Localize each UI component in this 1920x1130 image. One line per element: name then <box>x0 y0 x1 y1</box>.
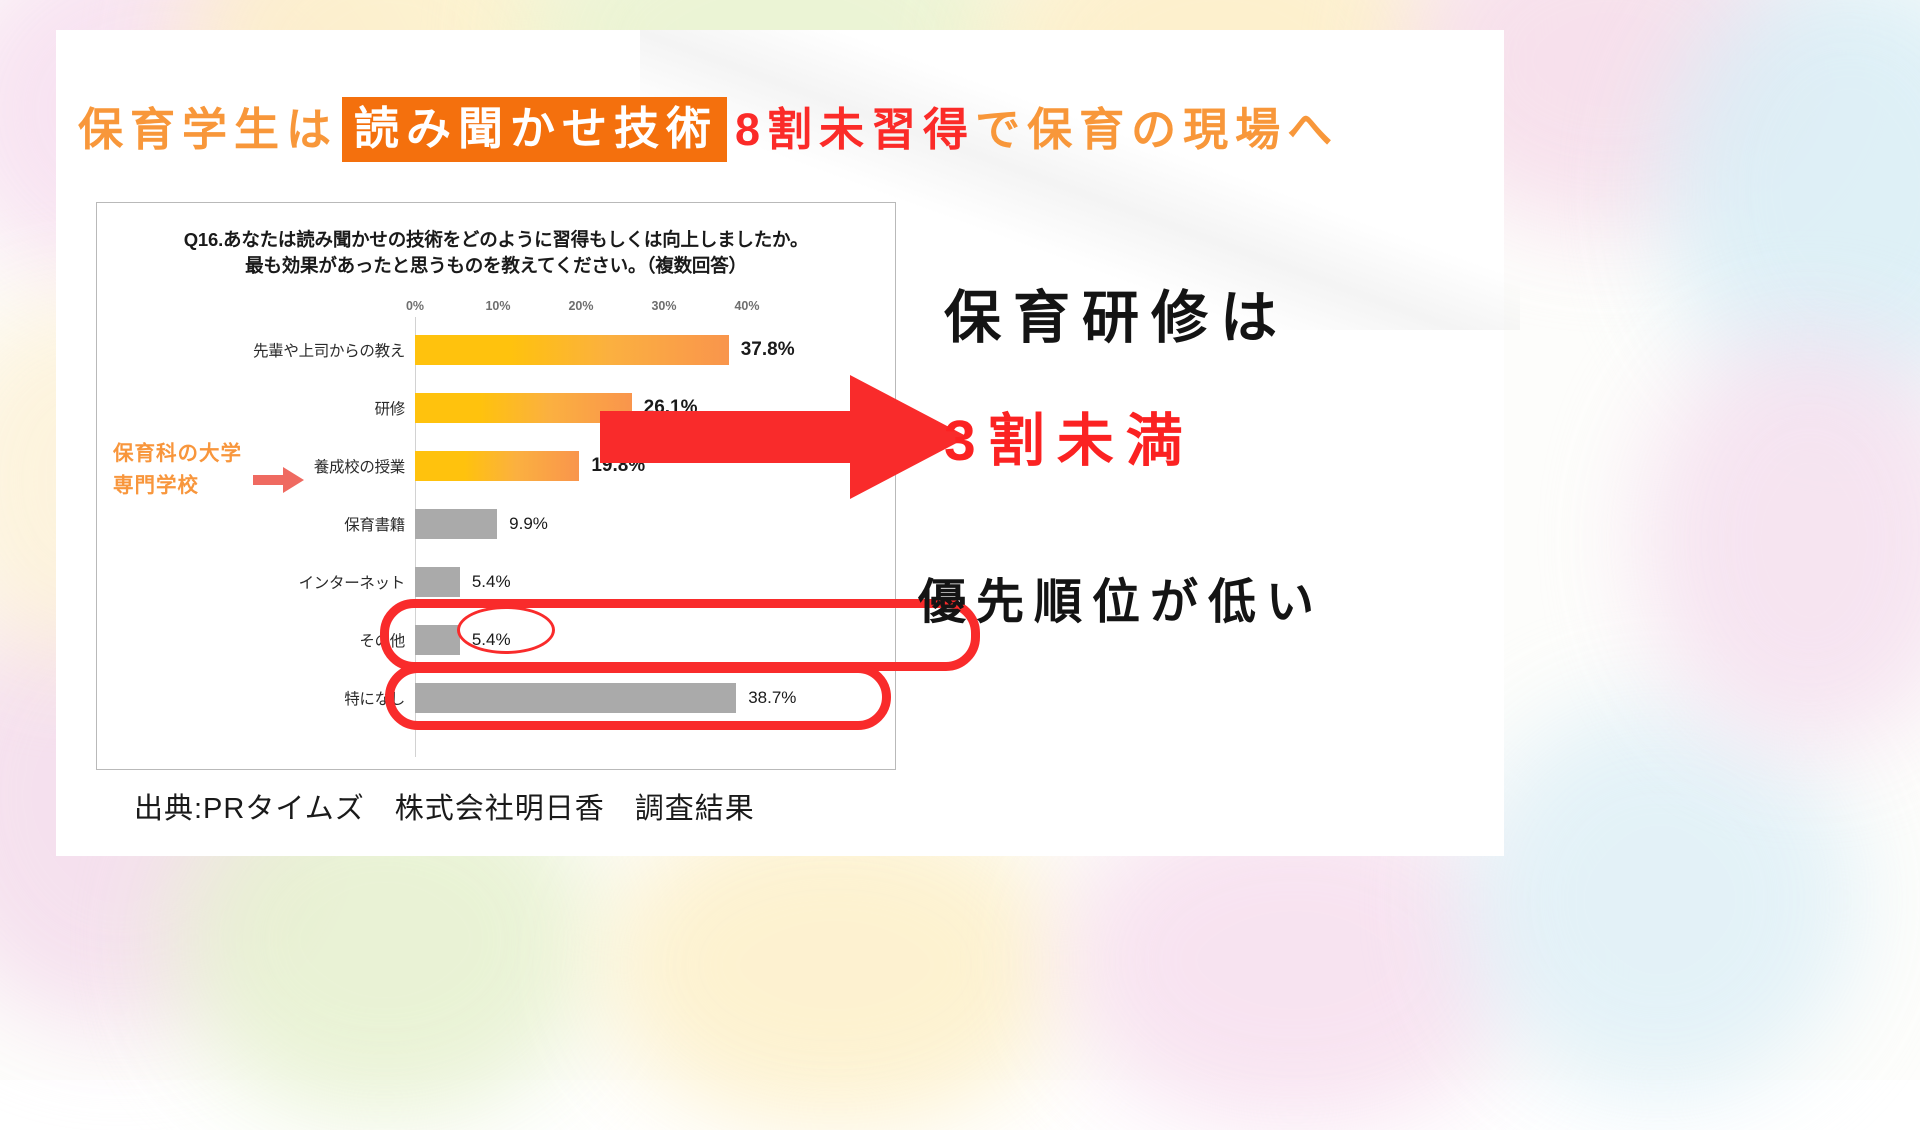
bar-value-label: 37.8% <box>741 339 795 361</box>
chart-bar-row: 保育書籍9.9% <box>97 495 897 553</box>
annotation-line1: 保育科の大学 <box>113 438 293 470</box>
bg-blob <box>1640 330 1920 750</box>
source-caption: 出典:PRタイムズ 株式会社明日香 調査結果 <box>134 785 755 827</box>
annotation-line2: 専門学校 <box>113 470 293 502</box>
bar-value-label: 5.4% <box>472 630 511 650</box>
bar-category-label: 先輩や上司からの教え <box>253 339 405 361</box>
headline-part2: 8割未習得 <box>735 107 975 152</box>
bar <box>415 393 632 423</box>
bar-category-label: 保育書籍 <box>344 513 405 535</box>
bar-value-label: 5.4% <box>472 572 511 592</box>
bar <box>415 567 460 597</box>
headline-part1: 保育学生は <box>78 107 338 152</box>
bar <box>415 509 497 539</box>
bar-category-label: その他 <box>359 629 405 651</box>
chart-title-line2: 最も効果があったと思うものを教えてください。（複数回答） <box>97 253 895 279</box>
x-axis-tick: 30% <box>651 299 676 313</box>
chart-bar-row: その他5.4% <box>97 611 897 669</box>
headline: 保育学生は 読み聞かせ技術 8割未習得 で保育の現場へ <box>78 97 1508 161</box>
chart-bar-row: 特になし38.7% <box>97 669 897 727</box>
message-line3: 優先順位が低い <box>918 562 1324 632</box>
headline-highlight: 読み聞かせ技術 <box>342 97 727 162</box>
bar-value-label: 38.7% <box>748 688 796 708</box>
chart-plot-area: 0%10%20%30%40% 先輩や上司からの教え37.8%研修26.1%養成校… <box>97 299 897 769</box>
chart-bar-row: 研修26.1% <box>97 379 897 437</box>
chart-bar-row: 先輩や上司からの教え37.8% <box>97 321 897 379</box>
annotation-text: 保育科の大学 専門学校 <box>113 438 293 502</box>
x-axis-tick: 10% <box>485 299 510 313</box>
bar <box>415 335 729 365</box>
chart-title-line1: Q16.あなたは読み聞かせの技術をどのように習得もしくは向上しましたか。 <box>184 229 809 250</box>
message-line2: 3割未満 <box>944 395 1195 477</box>
bg-blob <box>1460 700 1860 1100</box>
bar-category-label: 特になし <box>344 687 405 709</box>
chart-title: Q16.あなたは読み聞かせの技術をどのように習得もしくは向上しましたか。 最も効… <box>97 227 895 280</box>
x-axis-tick: 0% <box>406 299 424 313</box>
bar <box>415 451 579 481</box>
message-line1: 保育研修は <box>944 272 1289 354</box>
headline-part3: で保育の現場へ <box>975 107 1339 152</box>
bar <box>415 683 736 713</box>
x-axis-tick: 20% <box>568 299 593 313</box>
bar-category-label: 養成校の授業 <box>314 455 405 477</box>
bar <box>415 625 460 655</box>
x-axis-tick: 40% <box>734 299 759 313</box>
chart-bar-row: インターネット5.4% <box>97 553 897 611</box>
bar-category-label: インターネット <box>299 571 405 593</box>
bar-value-label: 19.8% <box>591 455 645 477</box>
bar-value-label: 9.9% <box>509 514 548 534</box>
bar-value-label: 26.1% <box>644 397 698 419</box>
bar-category-label: 研修 <box>375 397 405 419</box>
